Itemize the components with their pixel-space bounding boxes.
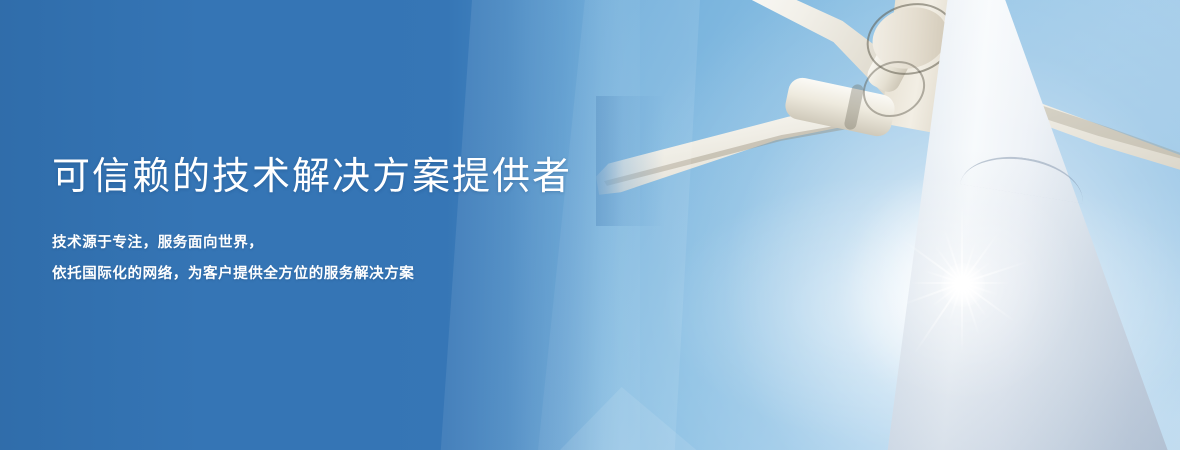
hero-headline: 可信赖的技术解决方案提供者 xyxy=(52,155,572,199)
hero-subtitle: 技术源于专注，服务面向世界， 依托国际化的网络，为客户提供全方位的服务解决方案 xyxy=(52,234,572,283)
hero-copy: 可信赖的技术解决方案提供者 技术源于专注，服务面向世界， 依托国际化的网络，为客… xyxy=(52,0,672,450)
hero-subtitle-line-1: 技术源于专注，服务面向世界， xyxy=(52,234,572,252)
hero-banner: 可信赖的技术解决方案提供者 技术源于专注，服务面向世界， 依托国际化的网络，为客… xyxy=(0,0,1180,450)
sun-core xyxy=(941,263,985,307)
hero-subtitle-line-2: 依托国际化的网络，为客户提供全方位的服务解决方案 xyxy=(52,265,572,283)
